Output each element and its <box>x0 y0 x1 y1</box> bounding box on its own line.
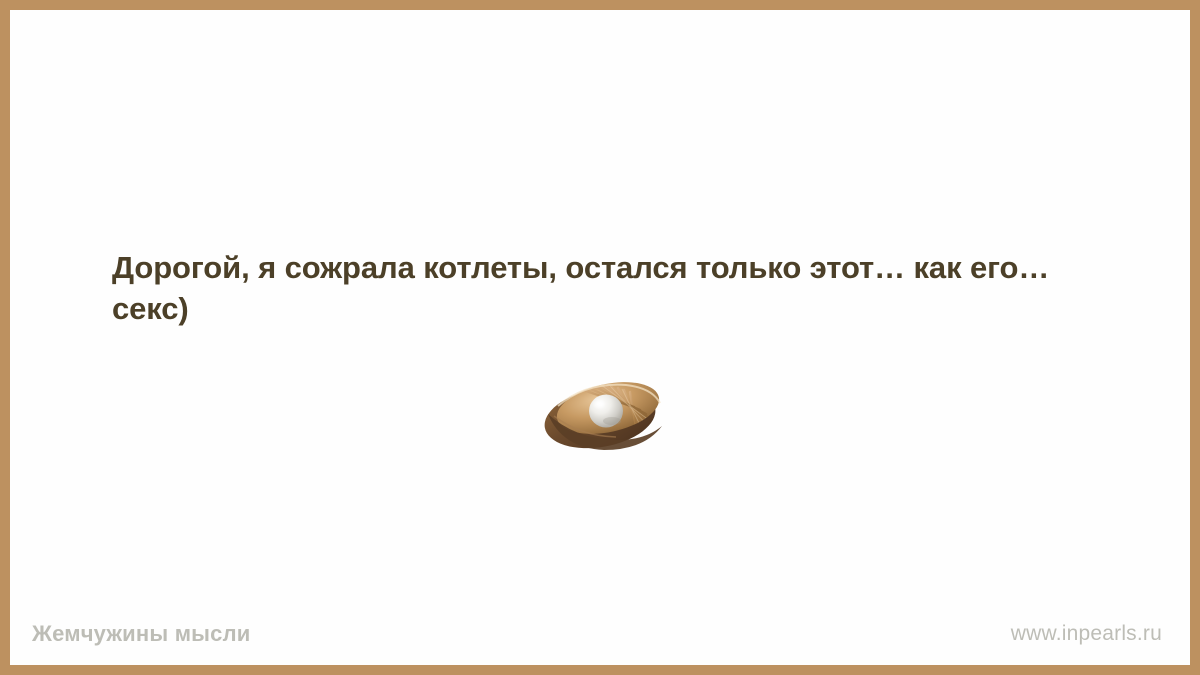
shell-with-pearl-illustration <box>540 376 670 452</box>
pearl-shadow <box>603 417 621 425</box>
footer-brand: Жемчужины мысли <box>32 621 251 647</box>
footer-site-url[interactable]: www.inpearls.ru <box>1011 622 1162 646</box>
footer: Жемчужины мысли www.inpearls.ru <box>10 617 1190 651</box>
quote-card: Дорогой, я сожрала котлеты, остался толь… <box>0 0 1200 675</box>
pearl-highlight <box>592 399 606 410</box>
shell-with-pearl-icon <box>540 376 670 452</box>
quote-block: Дорогой, я сожрала котлеты, остался толь… <box>112 248 1112 330</box>
quote-text: Дорогой, я сожрала котлеты, остался толь… <box>112 248 1112 330</box>
